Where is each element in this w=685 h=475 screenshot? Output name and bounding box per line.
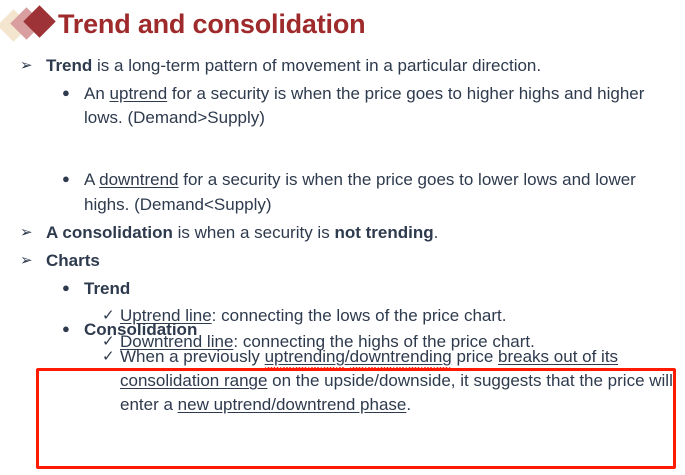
page-title: Trend and consolidation	[58, 11, 365, 40]
list-item-consolidation-definition: ➢ A consolidation is when a security is …	[0, 219, 685, 247]
consolidation-mid: is when a security is	[173, 223, 335, 242]
paragraph-spacer	[0, 132, 685, 166]
disc-bullet-icon: ●	[62, 82, 84, 105]
downtrend-text: A downtrend for a security is when the p…	[84, 168, 685, 216]
misspelled-word-uptrending: uptrending	[265, 347, 345, 366]
arrow-bullet-icon: ➢	[20, 54, 46, 77]
consolidation-emph: not trending	[334, 223, 433, 242]
disc-bullet-icon: ●	[62, 277, 84, 300]
downtrend-term: downtrend	[99, 170, 178, 189]
list-item-consolidation-heading: ● Consolidation	[0, 316, 685, 344]
downtrend-pre: A	[84, 170, 99, 189]
trend-heading: Trend	[84, 277, 685, 301]
consolidation-definition-text: A consolidation is when a security is no…	[46, 221, 685, 245]
consolidation-body-slash: /	[345, 347, 350, 366]
slide-title-row: Trend and consolidation	[0, 2, 365, 48]
consolidation-body-p1: When a previously	[120, 347, 265, 366]
trend-definition-rest: is a long-term pattern of movement in a …	[92, 56, 541, 75]
consolidation-body-p4: .	[406, 395, 411, 414]
consolidation-heading: Consolidation	[84, 318, 685, 342]
disc-bullet-icon: ●	[62, 168, 84, 191]
three-diamonds-icon	[0, 3, 58, 47]
uptrend-post: for a security is when the price goes to…	[84, 84, 644, 127]
list-item-uptrend: ● An uptrend for a security is when the …	[0, 80, 685, 132]
charts-heading: Charts	[46, 249, 685, 273]
trend-definition-lead: Trend	[46, 56, 92, 75]
consolidation-lead: A consolidation	[46, 223, 173, 242]
list-item-downtrend: ● A downtrend for a security is when the…	[0, 166, 685, 218]
arrow-bullet-icon: ➢	[20, 249, 46, 272]
list-item-trend-heading: ● Trend	[0, 275, 685, 303]
list-item-trend-definition: ➢ Trend is a long-term pattern of moveme…	[0, 52, 685, 80]
consolidation-body-u2: new uptrend/downtrend phase	[178, 395, 407, 414]
check-bullet-icon: ✓	[102, 345, 120, 369]
list-item-consolidation-body: ✓ When a previously uptrending/downtrend…	[0, 344, 685, 418]
consolidation-end: .	[434, 223, 439, 242]
consolidation-body-text: When a previously uptrending/downtrendin…	[120, 345, 685, 417]
uptrend-pre: An	[84, 84, 110, 103]
misspelled-word-downtrending: downtrending	[350, 347, 452, 366]
uptrend-term: uptrend	[110, 84, 168, 103]
disc-bullet-icon: ●	[62, 318, 84, 341]
uptrend-text: An uptrend for a security is when the pr…	[84, 82, 685, 130]
arrow-bullet-icon: ➢	[20, 221, 46, 244]
list-item-charts: ➢ Charts	[0, 247, 685, 275]
consolidation-block: ● Consolidation ✓ When a previously uptr…	[0, 316, 685, 419]
consolidation-body-p2: price	[452, 347, 498, 366]
outline-body: ➢ Trend is a long-term pattern of moveme…	[0, 52, 685, 355]
trend-definition-text: Trend is a long-term pattern of movement…	[46, 54, 685, 78]
